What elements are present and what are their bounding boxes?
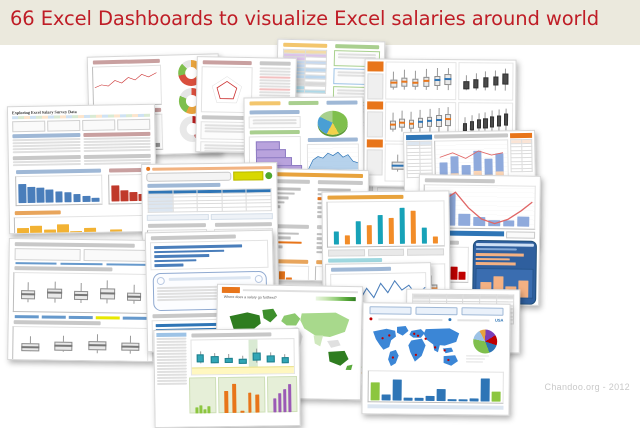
- slide-canvas: 66 Excel Dashboards to visualize Excel s…: [0, 0, 640, 428]
- page-title: 66 Excel Dashboards to visualize Excel s…: [10, 7, 599, 30]
- legend-marker-icon: [369, 317, 372, 320]
- thumbnail-green-background-dashboard[interactable]: [153, 328, 300, 428]
- credit-text: Chandoo.org - 2012: [545, 382, 630, 392]
- chandoo-logo-icon: [146, 167, 150, 171]
- thumbnail-exploring-excel-salary-survey-data[interactable]: Exploring Excel Salary Survey Data: [7, 104, 157, 235]
- data-table: [147, 188, 271, 212]
- bulb-icon: [157, 277, 165, 285]
- thumbnail-boxplot-report-left[interactable]: [7, 238, 155, 362]
- bulb-icon: [255, 275, 263, 283]
- recycle-icon: [265, 172, 272, 179]
- map-legend: [316, 296, 356, 301]
- pie-chart: [473, 329, 497, 353]
- pie-chart-3d: [318, 111, 348, 135]
- world-map: [368, 322, 464, 369]
- legend-marker-icon: [448, 318, 451, 321]
- dashboard-collage: Exploring Excel Salary Survey Data: [0, 45, 640, 428]
- thumbnail-blue-world-map-dashboard[interactable]: USA: [361, 302, 510, 416]
- usa-label: USA: [495, 318, 504, 323]
